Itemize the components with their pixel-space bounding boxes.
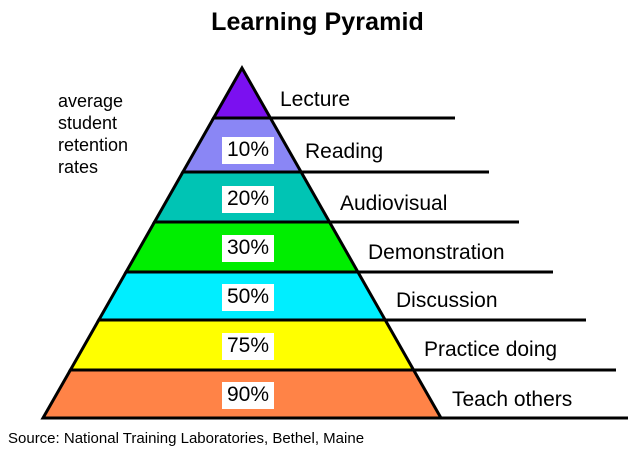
source-attribution: Source: National Training Laboratories, … bbox=[8, 430, 364, 447]
tier-label-lecture: Lecture bbox=[280, 88, 350, 112]
tier-label-audiovisual: Audiovisual bbox=[340, 192, 447, 216]
percent-badge-teach-others: 90% bbox=[222, 382, 274, 409]
tier-label-discussion: Discussion bbox=[396, 289, 498, 313]
percent-badge-practice-doing: 75% bbox=[222, 333, 274, 360]
percent-badge-audiovisual: 20% bbox=[222, 186, 274, 213]
tier-label-teach-others: Teach others bbox=[452, 388, 572, 412]
percent-badge-discussion: 50% bbox=[222, 284, 274, 311]
pyramid-tier-lecture bbox=[214, 68, 271, 118]
learning-pyramid-figure: Learning Pyramid average student retenti… bbox=[0, 0, 635, 467]
tier-label-reading: Reading bbox=[305, 140, 383, 164]
tier-label-practice-doing: Practice doing bbox=[424, 338, 557, 362]
percent-badge-reading: 10% bbox=[222, 137, 274, 164]
percent-badge-demonstration: 30% bbox=[222, 235, 274, 262]
tier-label-demonstration: Demonstration bbox=[368, 241, 505, 265]
